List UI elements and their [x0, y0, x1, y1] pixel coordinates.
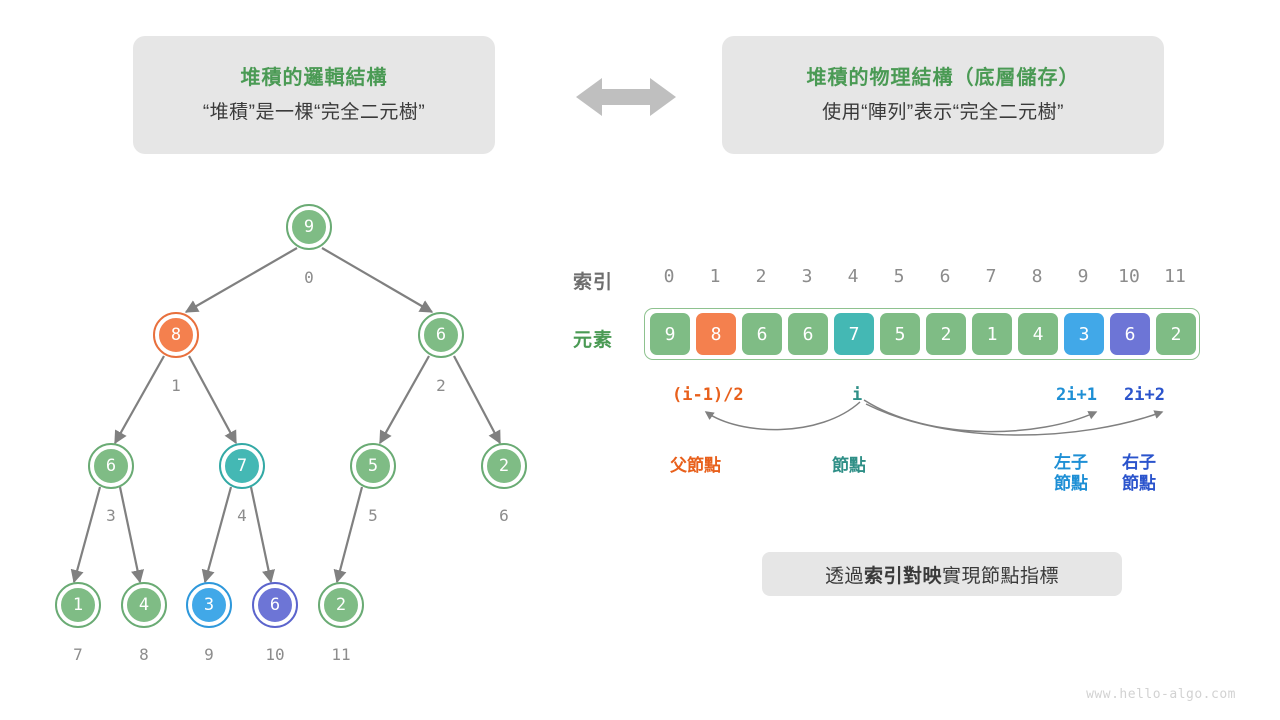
- physical-structure-subtitle: 使用“陣列”表示“完全二元樹”: [822, 102, 1064, 125]
- tree-node[interactable]: 3: [190, 586, 228, 624]
- right-child-role: 右子 節點: [1122, 452, 1156, 495]
- array-container: 986675214362: [644, 308, 1200, 360]
- physical-structure-title: 堆積的物理結構（底層儲存）: [807, 66, 1080, 90]
- tree-node-index: 9: [194, 645, 224, 664]
- array-index-cell: 1: [692, 266, 738, 287]
- right-child-role-line2: 節點: [1122, 473, 1156, 494]
- tree-node[interactable]: 2: [485, 447, 523, 485]
- array-index-cell: 5: [876, 266, 922, 287]
- tree-node-index: 6: [489, 506, 519, 525]
- tree-node[interactable]: 8: [157, 316, 195, 354]
- tree-node[interactable]: 5: [354, 447, 392, 485]
- tree-node-index: 11: [326, 645, 356, 664]
- parent-node-role: 父節點: [670, 455, 721, 476]
- array-index-label: 索引: [573, 267, 613, 294]
- tree-node-index: 7: [63, 645, 93, 664]
- array-element-cell[interactable]: 8: [696, 313, 736, 355]
- array-index-cell: 7: [968, 266, 1014, 287]
- binary-tree-diagram: 90816263745526174839610211: [0, 0, 600, 720]
- array-element-cell[interactable]: 3: [1064, 313, 1104, 355]
- tree-node-index: 2: [426, 376, 456, 395]
- right-child-role-line1: 右子: [1122, 452, 1156, 473]
- tree-node-index: 10: [260, 645, 290, 664]
- left-child-role-line2: 節點: [1054, 473, 1088, 494]
- array-index-cell: 6: [922, 266, 968, 287]
- array-index-cell: 2: [738, 266, 784, 287]
- array-element-cell[interactable]: 2: [1156, 313, 1196, 355]
- array-index-cell: 0: [646, 266, 692, 287]
- physical-structure-panel: 堆積的物理結構（底層儲存） 使用“陣列”表示“完全二元樹”: [722, 36, 1164, 154]
- tree-node[interactable]: 9: [290, 208, 328, 246]
- array-element-cell[interactable]: 7: [834, 313, 874, 355]
- array-element-cell[interactable]: 2: [926, 313, 966, 355]
- array-element-cell[interactable]: 9: [650, 313, 690, 355]
- array-element-cell[interactable]: 5: [880, 313, 920, 355]
- tree-node[interactable]: 1: [59, 586, 97, 624]
- tree-node[interactable]: 6: [256, 586, 294, 624]
- tree-node-index: 5: [358, 506, 388, 525]
- array-index-cell: 4: [830, 266, 876, 287]
- caption-box: 透過索引對映實現節點指標: [762, 552, 1122, 596]
- tree-node[interactable]: 4: [125, 586, 163, 624]
- array-index-cell: 8: [1014, 266, 1060, 287]
- array-element-cell[interactable]: 6: [788, 313, 828, 355]
- array-element-label: 元素: [573, 325, 613, 352]
- index-mapping-arrows: [600, 380, 1240, 460]
- tree-node[interactable]: 6: [422, 316, 460, 354]
- watermark: www.hello-algo.com: [1086, 687, 1236, 702]
- tree-node-index: 1: [161, 376, 191, 395]
- array-element-cell[interactable]: 6: [742, 313, 782, 355]
- array-element-cell[interactable]: 4: [1018, 313, 1058, 355]
- tree-node[interactable]: 6: [92, 447, 130, 485]
- caption-prefix: 透過: [825, 561, 864, 588]
- array-element-cell[interactable]: 1: [972, 313, 1012, 355]
- array-index-cell: 9: [1060, 266, 1106, 287]
- array-index-cell: 10: [1106, 266, 1152, 287]
- array-index-cell: 3: [784, 266, 830, 287]
- tree-node-index: 4: [227, 506, 257, 525]
- tree-node[interactable]: 7: [223, 447, 261, 485]
- array-index-cell: 11: [1152, 266, 1198, 287]
- self-node-role: 節點: [832, 455, 866, 476]
- caption-suffix: 實現節點指標: [942, 561, 1059, 588]
- caption-bold: 索引對映: [864, 561, 942, 588]
- tree-node[interactable]: 2: [322, 586, 360, 624]
- left-child-role: 左子 節點: [1054, 452, 1088, 495]
- tree-node-index: 8: [129, 645, 159, 664]
- left-child-role-line1: 左子: [1054, 452, 1088, 473]
- array-element-cell[interactable]: 6: [1110, 313, 1150, 355]
- tree-node-index: 3: [96, 506, 126, 525]
- tree-node-index: 0: [294, 268, 324, 287]
